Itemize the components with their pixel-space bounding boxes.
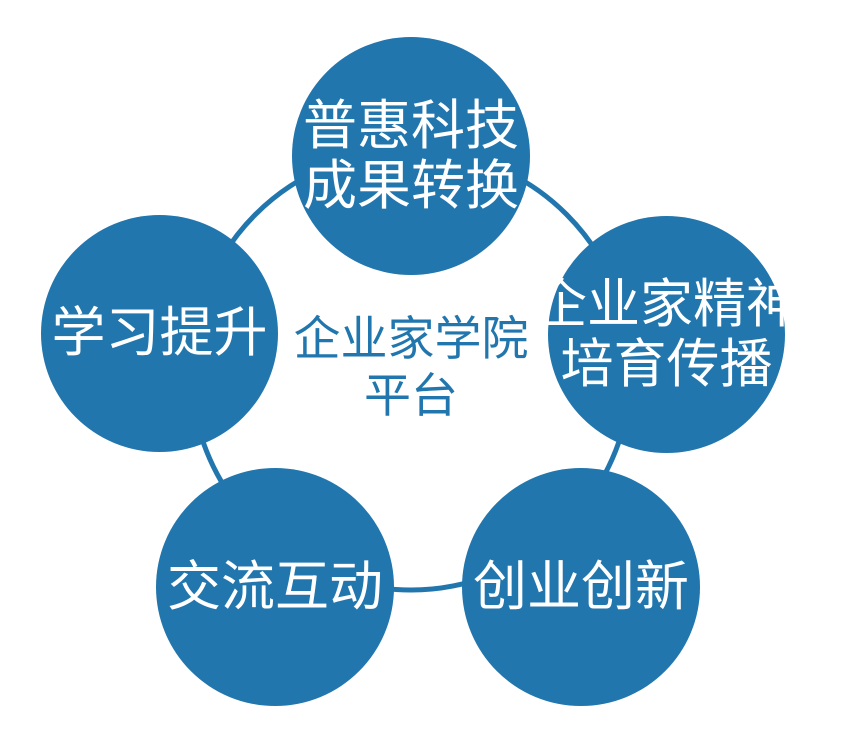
node-left-label-line1: 学习提升	[52, 303, 268, 363]
node-right-label: 企业家精神 培育传播	[534, 275, 799, 394]
node-left-label: 学习提升	[52, 303, 268, 363]
diagram-canvas: 普惠科技 成果转换 企业家精神 培育传播 创业创新 交流互动 学习提升 企业家学…	[0, 0, 841, 742]
node-top-label-line2: 成果转换	[303, 156, 519, 216]
node-bottom-right[interactable]: 创业创新	[462, 468, 700, 706]
node-left[interactable]: 学习提升	[41, 215, 278, 452]
center-label-line1: 企业家学院	[294, 312, 529, 365]
node-right-label-line2: 培育传播	[534, 335, 799, 394]
node-right-label-line1: 企业家精神	[534, 275, 799, 334]
node-top-label: 普惠科技 成果转换	[303, 96, 519, 217]
node-bottom-right-label: 创业创新	[473, 557, 689, 617]
center-label: 企业家学院 平台	[281, 310, 541, 425]
node-bottom-left-label-line1: 交流互动	[167, 557, 383, 617]
node-bottom-left[interactable]: 交流互动	[156, 468, 394, 706]
node-top-label-line1: 普惠科技	[303, 96, 519, 156]
node-top[interactable]: 普惠科技 成果转换	[292, 37, 530, 275]
node-right[interactable]: 企业家精神 培育传播	[548, 216, 785, 453]
center-label-line2: 平台	[281, 367, 541, 424]
node-bottom-left-label: 交流互动	[167, 557, 383, 617]
node-bottom-right-label-line1: 创业创新	[473, 557, 689, 617]
